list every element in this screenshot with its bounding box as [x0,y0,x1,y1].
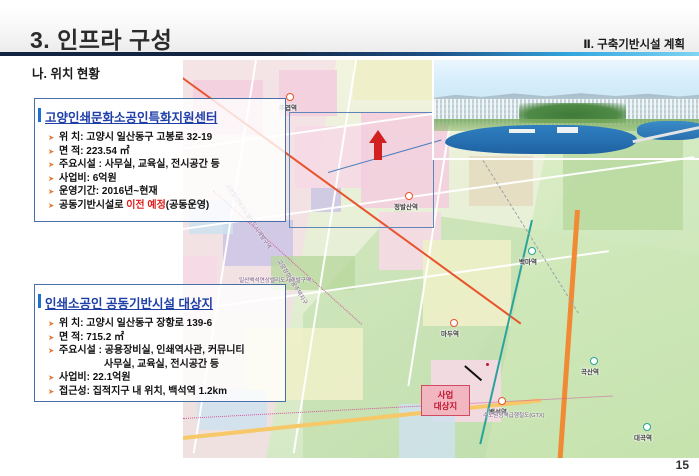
info-box-list: 위 치: 고양시 일산동구 장항로 139-6 면 적: 715.2 ㎡ 주요시… [35,317,285,399]
info-box-target-site: 인쇄소공인 공동기반시설 대상지 위 치: 고양시 일산동구 장항로 139-6… [34,284,286,402]
item-label: 접근성: [59,386,90,397]
slide-header: 3. 인프라 구성 Ⅱ. 구축기반시설 계획 [0,8,699,54]
item-value: 2016년~현재 [102,186,158,197]
item-value: 고양시 일산동구 장항로 139-6 [86,318,212,329]
item-label: 위 치: [59,132,84,143]
callout-anchor-dot [486,363,489,366]
item-label: 면 적: [59,332,84,343]
map-station-marker[interactable] [528,247,536,255]
item-label: 주요시설 : [59,345,102,356]
map-station-label: 곡산역 [581,366,599,376]
map-station-marker[interactable] [498,397,506,405]
info-box-center: 고양인쇄문화소공인특화지원센터 위 치: 고양시 일산동구 고봉로 32-19 … [34,98,286,222]
sub-heading: 나. 위치 현황 [32,63,100,82]
info-box-list: 위 치: 고양시 일산동구 고봉로 32-19 면 적: 223.54 ㎡ 주요… [35,131,285,213]
list-item: 주요시설 : 공용장비실, 인쇄역사관, 커뮤니티 [48,344,281,358]
item-label: 사업비: [59,173,90,184]
list-item: 면 적: 715.2 ㎡ [48,331,281,345]
page-title: 3. 인프라 구성 [30,21,172,55]
item-label: 공동기반시설로 [59,200,123,211]
site-callout-line2: 대상지 [434,401,457,412]
aerial-photo [432,60,699,160]
site-callout-badge[interactable]: 사업 대상지 [421,385,470,416]
page-number: 15 [676,458,689,472]
list-item: 운영기간: 2016년~현재 [48,185,281,199]
item-suffix: (공동운영) [166,200,209,211]
item-label: 운영기간: [59,186,99,197]
item-value: 공용장비실, 인쇄역사관, 커뮤니티 [105,345,245,356]
map-station-marker[interactable] [590,357,598,365]
info-box-title: 고양인쇄문화소공인특화지원센터 [45,107,285,126]
item-label: 면 적: [59,146,84,157]
item-value: 사무실, 교육실, 전시공간 등 [105,159,220,170]
list-item-continuation: 사무실, 교육실, 전시공간 등 [48,358,281,372]
center-location-arrow-icon [369,130,387,160]
map-station-marker[interactable] [643,423,651,431]
map-station-marker[interactable] [450,319,458,327]
item-label: 사업비: [59,372,90,383]
item-value: 22.1억원 [93,372,131,383]
map-station-label: 백마역 [519,256,537,266]
list-item: 접근성: 집적지구 내 위치, 백석역 1.2km [48,385,281,399]
map-station-label: 마두역 [441,328,459,338]
item-value: 715.2 ㎡ [86,332,124,343]
item-label: 위 치: [59,318,84,329]
list-item: 공동기반시설로 이전 예정(공동운영) [48,199,281,213]
map-zone-label: 수도권광역급행철도(GTX) [483,411,545,419]
map-station-marker[interactable] [286,93,294,101]
item-value-highlight: 이전 예정 [126,200,166,211]
list-item: 위 치: 고양시 일산동구 장항로 139-6 [48,317,281,331]
list-item: 사업비: 6억원 [48,172,281,186]
list-item: 사업비: 22.1억원 [48,371,281,385]
site-callout-line1: 사업 [438,390,454,401]
map-zone-label: 일산백석연상밸리도시개발구역 [239,276,311,284]
header-divider [0,52,699,56]
list-item: 주요시설 : 사무실, 교육실, 전시공간 등 [48,158,281,172]
item-value: 6억원 [93,173,117,184]
map-station-label: 대곡역 [634,432,652,442]
item-value: 223.54 ㎡ [86,146,129,157]
item-value: 집적지구 내 위치, 백석역 1.2km [93,386,227,397]
info-box-title: 인쇄소공인 공동기반시설 대상지 [45,293,285,312]
map-highlight-rect [289,112,434,228]
section-label: Ⅱ. 구축기반시설 계획 [583,36,685,52]
item-value: 고양시 일산동구 고봉로 32-19 [86,132,212,143]
list-item: 위 치: 고양시 일산동구 고봉로 32-19 [48,131,281,145]
item-label: 주요시설 : [59,159,102,170]
list-item: 면 적: 223.54 ㎡ [48,145,281,159]
